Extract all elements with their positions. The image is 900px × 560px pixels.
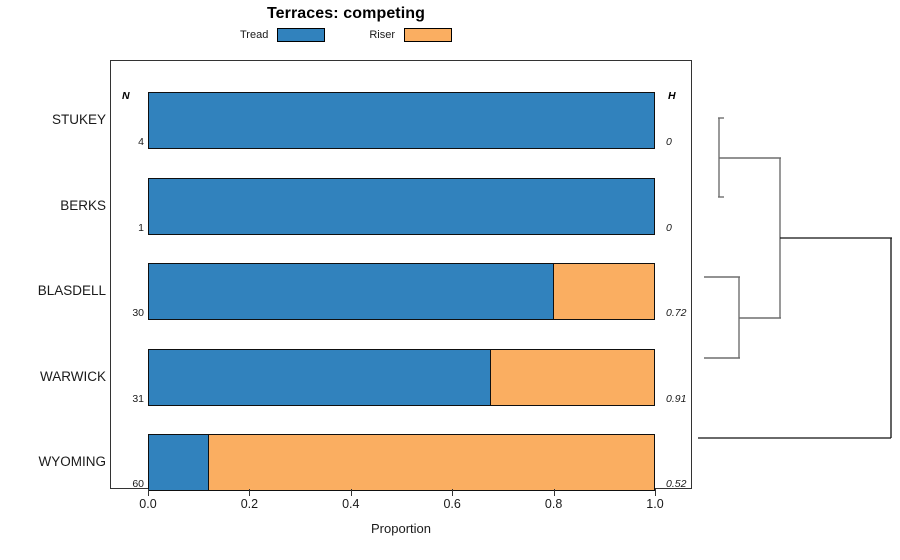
x-tick-label-5: 1.0 xyxy=(635,497,675,511)
dendrogram-svg xyxy=(694,0,900,560)
x-tick-label-0: 0.0 xyxy=(128,497,168,511)
chart-canvas: Terraces: competing Tread Riser STUKEYBE… xyxy=(0,0,900,560)
x-tick-label-3: 0.6 xyxy=(432,497,472,511)
x-tick-mark-4 xyxy=(554,489,555,496)
x-tick-mark-0 xyxy=(148,489,149,496)
x-tick-mark-5 xyxy=(655,489,656,496)
x-axis-title: Proportion xyxy=(110,521,692,536)
x-tick-label-1: 0.2 xyxy=(229,497,269,511)
x-tick-mark-1 xyxy=(249,489,250,496)
x-tick-label-2: 0.4 xyxy=(331,497,371,511)
x-tick-label-4: 0.8 xyxy=(534,497,574,511)
x-tick-mark-2 xyxy=(351,489,352,496)
dendrogram xyxy=(694,0,900,560)
x-tick-mark-3 xyxy=(452,489,453,496)
